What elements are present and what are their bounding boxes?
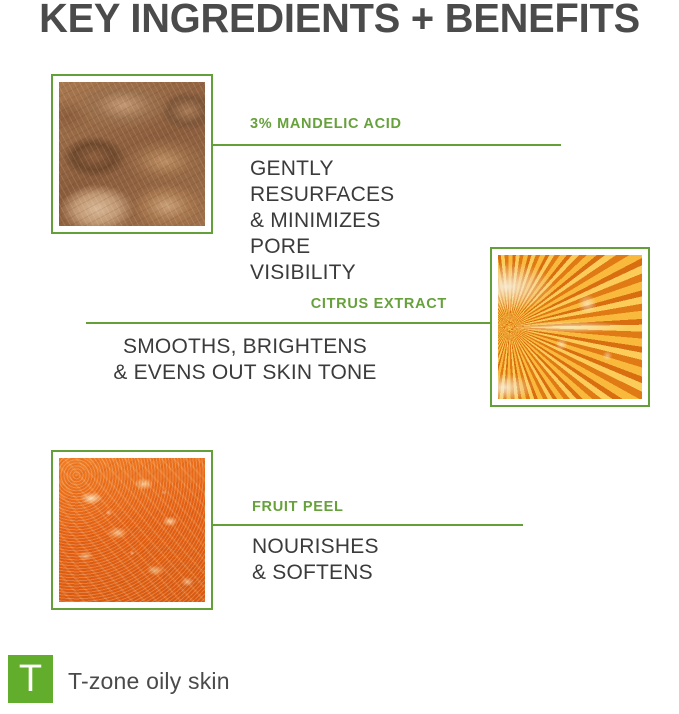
fruit-peel-image bbox=[59, 458, 205, 602]
ingredient-label-1: 3% MANDELIC ACID bbox=[250, 116, 402, 132]
t-zone-label: T-zone oily skin bbox=[68, 668, 230, 695]
divider-rule-2 bbox=[86, 322, 490, 324]
ingredient-label-3: FRUIT PEEL bbox=[252, 499, 344, 515]
page-title: KEY INGREDIENTS + BENEFITS bbox=[10, 0, 669, 40]
ingredient-benefit-3: NOURISHES & SOFTENS bbox=[252, 534, 379, 586]
ingredient-photo-peel bbox=[51, 450, 213, 610]
ingredient-benefit-1: GENTLY RESURFACES & MINIMIZES PORE VISIB… bbox=[250, 156, 394, 286]
divider-rule-1 bbox=[213, 144, 561, 146]
divider-rule-3 bbox=[213, 524, 523, 526]
almonds-image bbox=[59, 82, 205, 226]
ingredient-label-2: CITRUS EXTRACT bbox=[0, 296, 447, 312]
orange-slice-image bbox=[498, 255, 642, 399]
ingredient-benefit-2: SMOOTHS, BRIGHTENS & EVENS OUT SKIN TONE bbox=[0, 334, 490, 386]
t-zone-badge: T bbox=[8, 655, 53, 703]
ingredient-photo-almonds bbox=[51, 74, 213, 234]
ingredient-photo-citrus bbox=[490, 247, 650, 407]
